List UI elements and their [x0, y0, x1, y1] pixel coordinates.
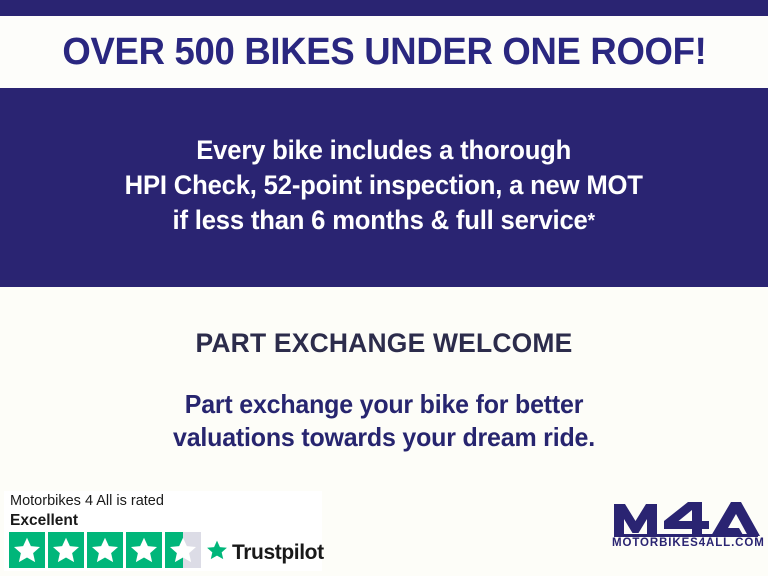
- trustpilot-star-rating: [9, 532, 201, 568]
- trustpilot-star-icon: [206, 539, 228, 566]
- star-icon: [87, 532, 123, 568]
- top-accent-strip: [0, 0, 768, 16]
- service-panel-text: Every bike includes a thorough HPI Check…: [125, 133, 643, 242]
- trustpilot-rated-text: Motorbikes 4 All is rated: [10, 494, 164, 509]
- part-exchange-panel: PART EXCHANGE WELCOME Part exchange your…: [0, 287, 768, 576]
- headline-text: OVER 500 BIKES UNDER ONE ROOF!: [62, 33, 706, 71]
- star-half-icon: [165, 532, 201, 568]
- star-icon: [9, 532, 45, 568]
- service-line-3-wrapper: if less than 6 months & full service*: [125, 203, 643, 238]
- service-line-2: HPI Check, 52-point inspection, a new MO…: [125, 168, 643, 203]
- trustpilot-brand-name: Trustpilot: [232, 542, 324, 563]
- service-line-1: Every bike includes a thorough: [125, 133, 643, 168]
- star-icon: [48, 532, 84, 568]
- part-exchange-body: Part exchange your bike for better valua…: [15, 388, 752, 454]
- part-exchange-heading: PART EXCHANGE WELCOME: [8, 330, 761, 357]
- trustpilot-brand[interactable]: Trustpilot: [206, 539, 324, 566]
- part-exchange-body-line-2: valuations towards your dream ride.: [15, 421, 752, 454]
- star-icon: [126, 532, 162, 568]
- service-line-3: if less than 6 months & full service: [173, 205, 588, 235]
- trustpilot-score-label: Excellent: [10, 513, 78, 529]
- footnote-asterisk: *: [588, 210, 595, 232]
- service-panel: Every bike includes a thorough HPI Check…: [0, 88, 768, 287]
- m4a-logo[interactable]: MOTORBIKES4ALL.COM: [612, 500, 760, 556]
- trustpilot-widget[interactable]: Motorbikes 4 All is rated Excellent: [4, 491, 322, 571]
- promotional-banner: OVER 500 BIKES UNDER ONE ROOF! Every bik…: [0, 0, 768, 576]
- part-exchange-body-line-1: Part exchange your bike for better: [15, 388, 752, 421]
- m4a-logo-url: MOTORBIKES4ALL.COM: [612, 538, 760, 550]
- headline-band: OVER 500 BIKES UNDER ONE ROOF!: [0, 16, 768, 88]
